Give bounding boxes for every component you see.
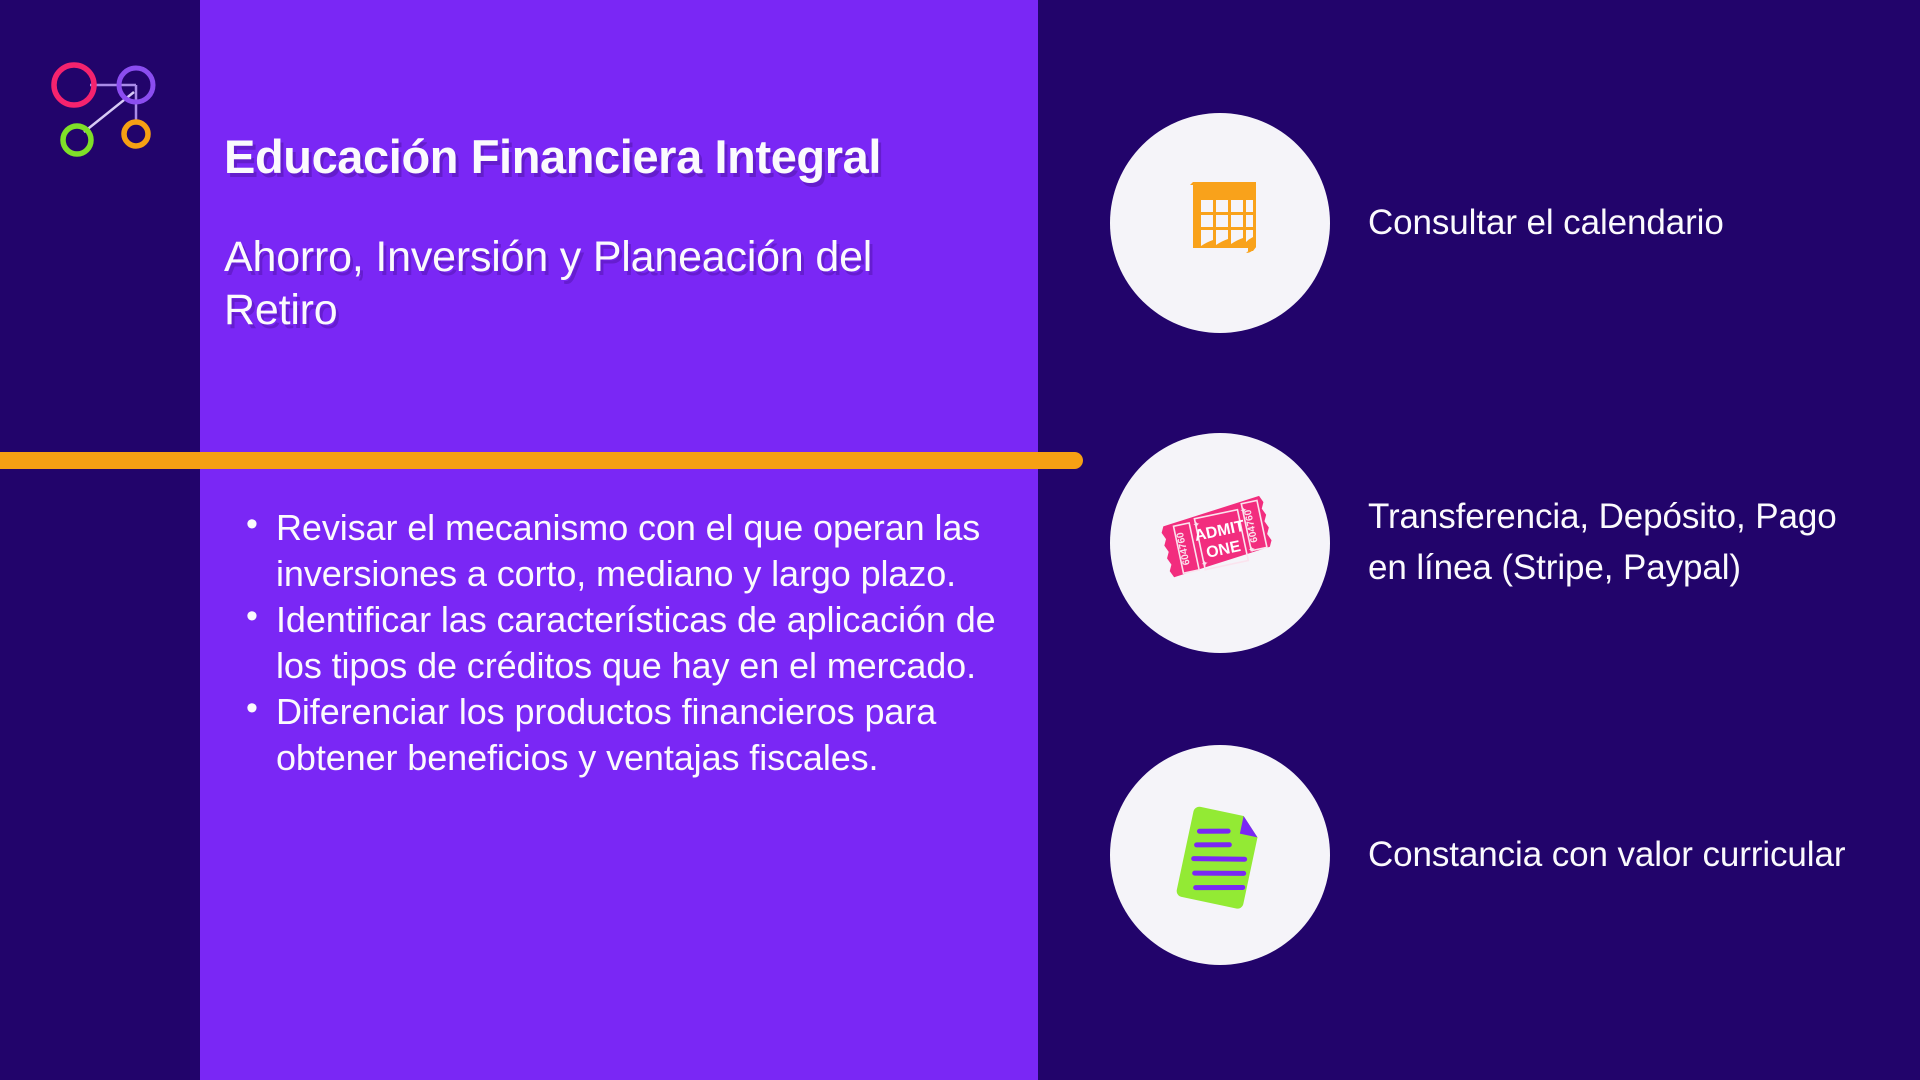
feature-item-payment: 604760 604760 ADMIT ONE ✦ ✦ ✦ ✦ Transfer…: [1110, 428, 1920, 658]
feature-label: Transferencia, Depósito, Pago en línea (…: [1368, 492, 1868, 594]
feature-label: Constancia con valor curricular: [1368, 830, 1845, 881]
ring-orange-icon: [124, 122, 148, 146]
icon-badge: [1110, 745, 1330, 965]
icon-badge: [1110, 113, 1330, 333]
document-icon: [1155, 790, 1285, 920]
ticket-icon: 604760 604760 ADMIT ONE ✦ ✦ ✦ ✦: [1150, 483, 1290, 603]
feature-item-calendar: Consultar el calendario: [1110, 108, 1920, 338]
slide-root: Educación Financiera Integral Ahorro, In…: [0, 0, 1920, 1080]
ring-green-icon: [63, 126, 91, 154]
orange-divider: [0, 452, 1083, 469]
objectives-list: Revisar el mecanismo con el que operan l…: [240, 505, 1000, 781]
features-column: Consultar el calendario 604760 604760 AD…: [1110, 0, 1920, 1080]
feature-item-certificate: Constancia con valor curricular: [1110, 740, 1920, 970]
icon-badge: 604760 604760 ADMIT ONE ✦ ✦ ✦ ✦: [1110, 433, 1330, 653]
heading-block: Educación Financiera Integral Ahorro, In…: [224, 130, 924, 336]
page-subtitle: Ahorro, Inversión y Planeación del Retir…: [224, 231, 924, 336]
calendar-icon: [1160, 163, 1280, 283]
list-item: Diferenciar los productos financieros pa…: [240, 689, 1000, 781]
ring-pink-icon: [54, 65, 94, 105]
list-item: Identificar las características de aplic…: [240, 597, 1000, 689]
four-ring-network-logo: [42, 48, 172, 168]
logo-svg: [42, 48, 172, 168]
feature-label: Consultar el calendario: [1368, 198, 1724, 249]
page-title: Educación Financiera Integral: [224, 130, 924, 183]
list-item: Revisar el mecanismo con el que operan l…: [240, 505, 1000, 597]
